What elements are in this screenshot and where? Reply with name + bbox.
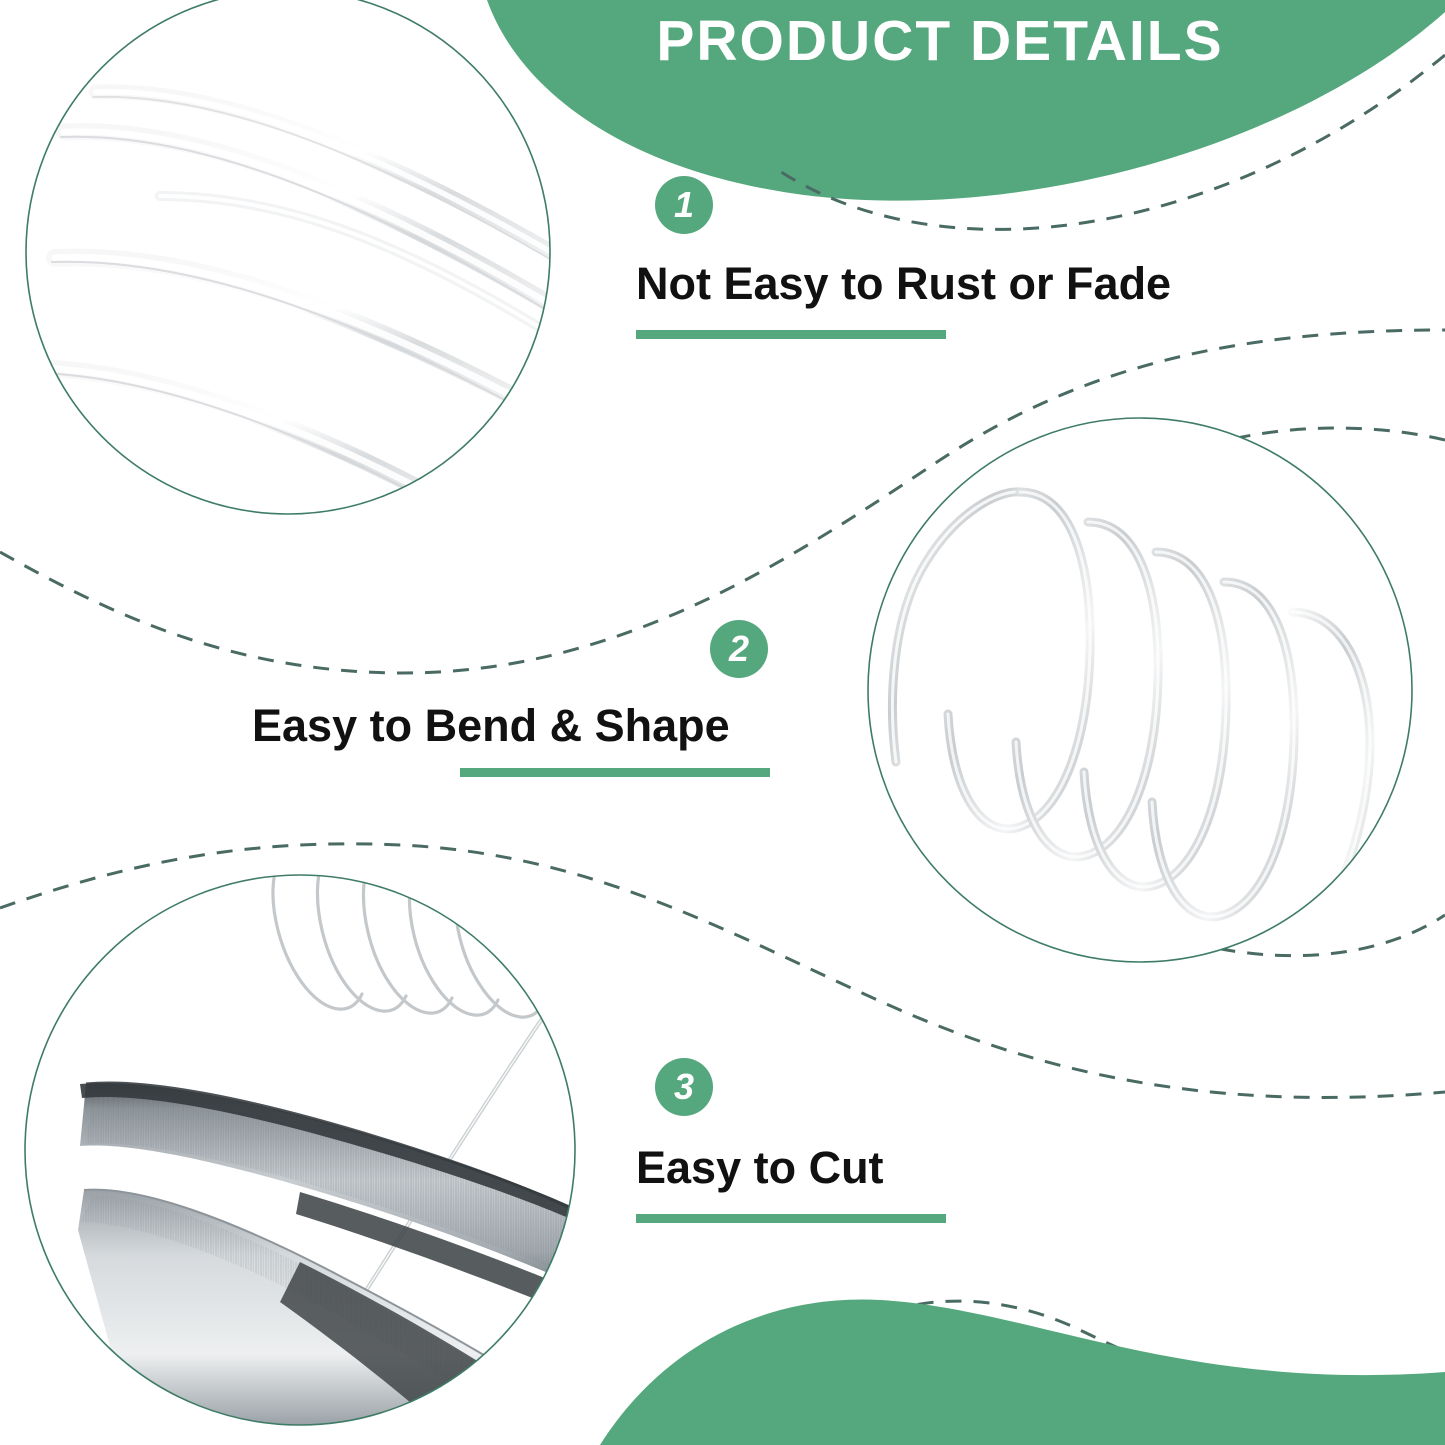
wire-strands-photo	[20, 0, 565, 540]
feature-title-2: Easy to Bend & Shape	[252, 700, 730, 752]
feature-number-badge-2: 2	[710, 620, 768, 678]
feature-title-3: Easy to Cut	[636, 1142, 884, 1194]
scissors-cutting-wire-photo	[20, 863, 612, 1445]
feature-underline-3	[636, 1214, 946, 1223]
product-details-infographic: PRODUCT DETAILS 1 Not Easy to Rust or Fa…	[0, 0, 1445, 1445]
feature-underline-1	[636, 330, 946, 339]
feature-underline-2	[460, 768, 770, 777]
page-title: PRODUCT DETAILS	[620, 8, 1260, 74]
feature-number-badge-1: 1	[655, 176, 713, 234]
footer-wave-shape	[600, 1300, 1445, 1445]
feature-title-1: Not Easy to Rust or Fade	[636, 258, 1171, 310]
wire-coil-photo	[860, 410, 1430, 980]
feature-number-badge-3: 3	[655, 1058, 713, 1116]
